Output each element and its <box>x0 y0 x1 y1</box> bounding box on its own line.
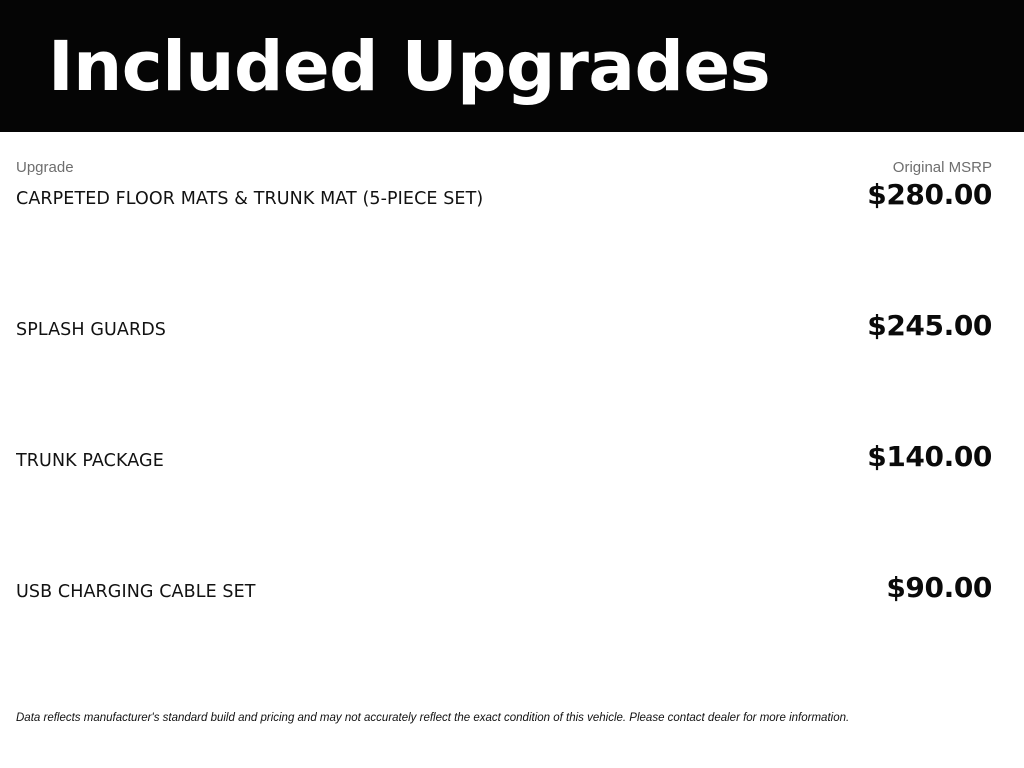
table-row-content: SPLASH GUARDS $245.00 <box>0 311 1024 345</box>
upgrades-table-body: CARPETED FLOOR MATS & TRUNK MAT (5-PIECE… <box>0 180 1024 704</box>
upgrade-name: SPLASH GUARDS <box>16 317 166 343</box>
table-row-content: TRUNK PACKAGE $140.00 <box>0 442 1024 476</box>
table-row: CARPETED FLOOR MATS & TRUNK MAT (5-PIECE… <box>0 180 1024 311</box>
column-header-upgrade: Upgrade <box>16 159 74 177</box>
upgrade-price: $90.00 <box>862 573 992 603</box>
upgrade-price: $140.00 <box>843 442 992 472</box>
table-row: TRUNK PACKAGE $140.00 <box>0 442 1024 573</box>
upgrades-table: Upgrade Original MSRP CARPETED FLOOR MAT… <box>0 132 1024 704</box>
table-row-content: CARPETED FLOOR MATS & TRUNK MAT (5-PIECE… <box>0 180 1024 214</box>
table-row: SPLASH GUARDS $245.00 <box>0 311 1024 442</box>
disclaimer-text: Data reflects manufacturer's standard bu… <box>16 710 1008 726</box>
table-row: USB CHARGING CABLE SET $90.00 <box>0 573 1024 704</box>
upgrade-name: USB CHARGING CABLE SET <box>16 579 256 605</box>
upgrade-name: CARPETED FLOOR MATS & TRUNK MAT (5-PIECE… <box>16 186 483 212</box>
upgrade-price: $245.00 <box>843 311 992 341</box>
upgrade-name: TRUNK PACKAGE <box>16 448 164 474</box>
table-row-content: USB CHARGING CABLE SET $90.00 <box>0 573 1024 607</box>
column-header-original-msrp: Original MSRP <box>893 159 992 177</box>
upgrade-price: $280.00 <box>843 180 992 210</box>
page-header-band: Included Upgrades <box>0 0 1024 132</box>
included-upgrades-page: Included Upgrades Upgrade Original MSRP … <box>0 0 1024 768</box>
page-title: Included Upgrades <box>48 27 770 107</box>
table-column-headers: Upgrade Original MSRP <box>0 132 1024 180</box>
